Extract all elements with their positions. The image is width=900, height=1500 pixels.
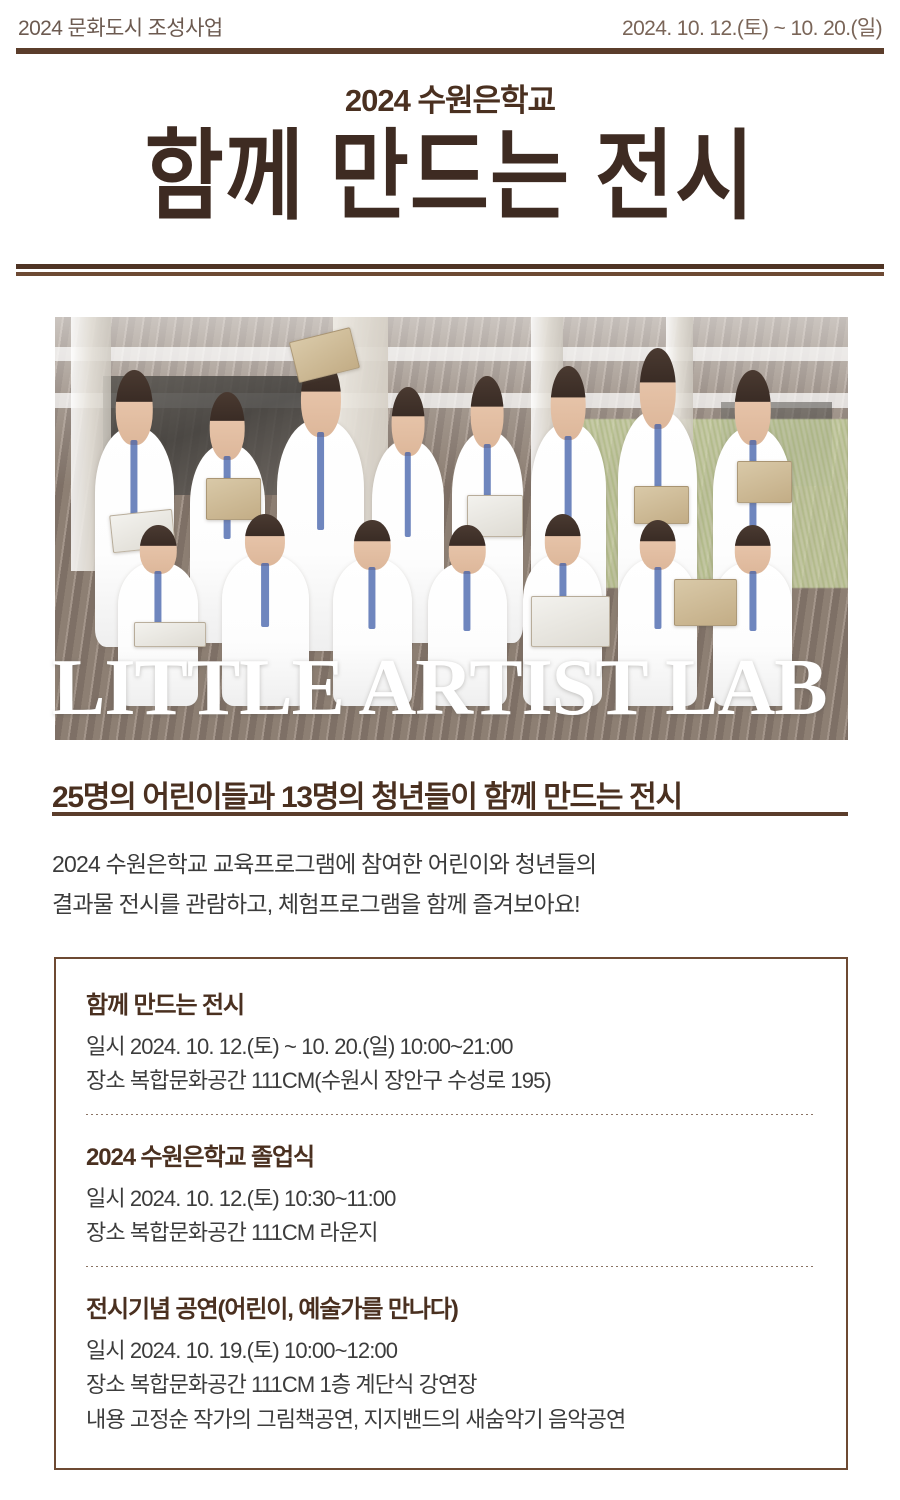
divider-line-lower: [16, 272, 884, 276]
description-line-2: 결과물 전시를 관람하고, 체험프로그램을 함께 즐겨보아요!: [52, 885, 852, 925]
photo-clipboard: [531, 596, 610, 647]
info-section-line: 일시 2024. 10. 12.(토) 10:30~11:00: [86, 1182, 816, 1216]
description-line-1: 2024 수원은학교 교육프로그램에 참여한 어린이와 청년들의: [52, 845, 852, 885]
poster-subtitle: 2024 수원은학교: [0, 84, 900, 118]
info-section-exhibition: 함께 만드는 전시 일시 2024. 10. 12.(토) ~ 10. 20.(…: [86, 985, 816, 1119]
info-section-line: 장소 복합문화공간 111CM(수원시 장안구 수성로 195): [86, 1064, 816, 1098]
photo-clipboard: [737, 461, 793, 503]
page-title: 함께 만드는 전시: [0, 120, 900, 236]
info-section-line: 일시 2024. 10. 19.(토) 10:00~12:00: [86, 1334, 816, 1368]
info-section-title: 함께 만드는 전시: [86, 985, 816, 1020]
section-divider: [86, 1114, 816, 1115]
photo-clipboard: [206, 478, 262, 520]
photo-beam: [55, 347, 848, 362]
photo-clipboard: [674, 579, 737, 626]
info-section-title: 전시기념 공연(어린이, 예술가를 만나다): [86, 1289, 816, 1324]
program-label: 2024 문화도시 조성사업: [18, 0, 223, 42]
section-divider: [86, 1266, 816, 1267]
info-section-performance: 전시기념 공연(어린이, 예술가를 만나다) 일시 2024. 10. 19.(…: [86, 1271, 816, 1440]
divider-line-upper: [16, 264, 884, 269]
info-section-title: 2024 수원은학교 졸업식: [86, 1137, 816, 1172]
header-divider: [16, 48, 884, 54]
title-block: 2024 수원은학교 함께 만드는 전시: [0, 84, 900, 222]
info-section-line: 일시 2024. 10. 12.(토) ~ 10. 20.(일) 10:00~2…: [86, 1030, 816, 1064]
title-double-divider: [16, 264, 884, 276]
tagline-underline: [52, 812, 848, 816]
photo-overlay-title: LITTLE ARTIST LAB: [52, 648, 862, 728]
info-section-line: 내용 고정순 작가의 그림책공연, 지지밴드의 새숨악기 음악공연: [86, 1403, 816, 1437]
info-section-line: 장소 복합문화공간 111CM 1층 계단식 강연장: [86, 1368, 816, 1402]
event-info-box: 함께 만드는 전시 일시 2024. 10. 12.(토) ~ 10. 20.(…: [54, 957, 848, 1470]
tagline: 25명의 어린이들과 13명의 청년들이 함께 만드는 전시: [52, 772, 852, 816]
header-date-range: 2024. 10. 12.(토) ~ 10. 20.(일): [622, 0, 882, 42]
description: 2024 수원은학교 교육프로그램에 참여한 어린이와 청년들의 결과물 전시를…: [52, 845, 852, 924]
photo-clipboard: [634, 486, 690, 524]
info-section-graduation: 2024 수원은학교 졸업식 일시 2024. 10. 12.(토) 10:30…: [86, 1119, 816, 1271]
info-section-line: 장소 복합문화공간 111CM 라운지: [86, 1216, 816, 1250]
